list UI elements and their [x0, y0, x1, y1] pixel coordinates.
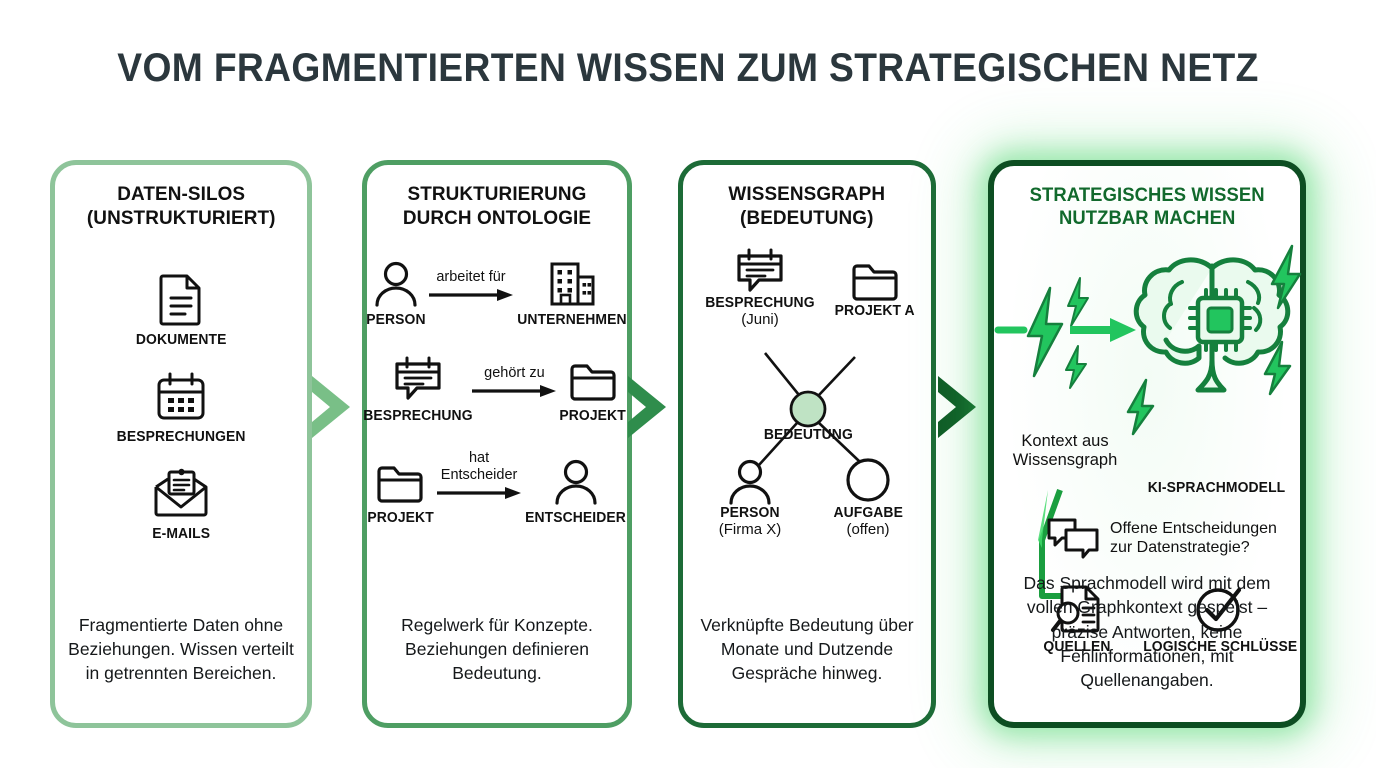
graph-node-besprechung: BESPRECHUNG (Juni)	[695, 247, 825, 328]
question-line-1: Offene Entscheidungen	[1110, 519, 1277, 538]
panel-2-heading-line1: STRUKTURIERUNG	[403, 183, 591, 207]
question-row: Offene Entscheidungen zur Datenstrategie…	[1046, 516, 1277, 560]
ontology-relation-list: PERSON arbeitet für	[377, 261, 617, 526]
knowledge-graph: BESPRECHUNG (Juni) PROJEKT A BEDEUTUNG	[687, 247, 927, 547]
lightning-icon-top-right	[1266, 244, 1306, 310]
calendar-icon	[155, 372, 207, 422]
lightning-icon-bottom-left	[1122, 378, 1158, 436]
chat-bubbles-icon	[1046, 516, 1100, 560]
graph-sub-besprechung: (Juni)	[741, 311, 779, 328]
panel-1-heading: DATEN-SILOS (UNSTRUKTURIERT)	[87, 183, 276, 231]
panel-knowledge-graph: WISSENSGRAPH (BEDEUTUNG)	[678, 160, 936, 728]
ontology-node-besprechung: BESPRECHUNG	[366, 355, 470, 424]
panel-2-heading: STRUKTURIERUNG DURCH ONTOLOGIE	[403, 183, 591, 231]
panel-4-heading-line1: STRATEGISCHES WISSEN	[1029, 184, 1264, 207]
flow-arrow-2	[622, 372, 678, 442]
relation-row-projekt-entscheider: PROJEKT hat Entscheider	[377, 451, 617, 526]
panel-4-heading-line2: NUTZBAR MACHEN	[1029, 207, 1264, 230]
flow-arrow-1	[306, 372, 362, 442]
graph-node-person: PERSON (Firma X)	[695, 459, 805, 538]
panel-data-silos: DATEN-SILOS (UNSTRUKTURIERT) DOKUMENTE	[50, 160, 312, 728]
panel-4-description: Das Sprachmodell wird mit dem vollen Gra…	[1002, 571, 1292, 692]
circle-icon	[845, 457, 891, 505]
panel-2-description: Regelwerk für Konzepte. Beziehungen defi…	[375, 613, 619, 685]
graph-sub-person: (Firma X)	[719, 521, 782, 538]
ontology-node-person: PERSON	[365, 261, 427, 328]
infographic-canvas: VOM FRAGMENTIERTEN WISSEN ZUM STRATEGISC…	[0, 0, 1376, 768]
ontology-label-unternehmen: UNTERNEHMEN	[517, 312, 626, 328]
arrow-right-icon	[470, 384, 558, 398]
relation-gehoert-zu: gehört zu	[470, 366, 558, 424]
graph-sub-aufgabe: (offen)	[846, 521, 889, 538]
silo-label-besprechungen: BESPRECHUNGEN	[117, 429, 246, 445]
ontology-node-unternehmen: UNTERNEHMEN	[515, 261, 629, 328]
ontology-node-projekt: PROJEKT	[558, 361, 627, 424]
relation-hat-entscheider: hat Entscheider	[435, 451, 523, 526]
relation-label-gehoert-zu: gehört zu	[484, 366, 544, 382]
arrow-right-icon	[435, 486, 523, 500]
ontology-label-person: PERSON	[366, 312, 425, 328]
ontology-label-besprechung: BESPRECHUNG	[364, 408, 473, 424]
person-icon	[554, 459, 598, 505]
llm-label-text: KI-SPRACHMODELL	[1137, 480, 1295, 496]
panel-1-heading-line1: DATEN-SILOS	[87, 183, 276, 207]
ontology-label-projekt-2: PROJEKT	[367, 510, 433, 526]
relation-label-entscheider: Entscheider	[441, 468, 518, 484]
panel-3-heading: WISSENSGRAPH (BEDEUTUNG)	[729, 183, 886, 231]
panel-4-heading: STRATEGISCHES WISSEN NUTZBAR MACHEN	[1029, 184, 1264, 230]
panel-1-heading-line2: (UNSTRUKTURIERT)	[87, 207, 276, 231]
graph-label-besprechung: BESPRECHUNG	[705, 295, 814, 311]
silo-item-dokumente: DOKUMENTE	[134, 273, 228, 348]
folder-icon	[850, 261, 900, 303]
chip-icon	[1190, 290, 1250, 350]
question-line-2: zur Datenstrategie?	[1110, 538, 1277, 557]
graph-label-person: PERSON	[720, 505, 779, 521]
person-icon	[374, 261, 418, 307]
graph-center-bedeutung: BEDEUTUNG	[723, 427, 893, 443]
ontology-label-entscheider: ENTSCHEIDER	[525, 510, 626, 526]
panel-3-description: Verknüpfte Bedeutung über Monate und Dut…	[691, 613, 923, 685]
ontology-node-projekt-2: PROJEKT	[366, 463, 435, 526]
relation-row-person-unternehmen: PERSON arbeitet für	[377, 261, 617, 328]
panel-1-description: Fragmentierte Daten ohne Beziehungen. Wi…	[63, 613, 299, 685]
flow-arrow-3	[932, 372, 988, 442]
building-icon	[546, 261, 598, 307]
silo-item-emails: E-MAILS	[151, 469, 211, 542]
panel-3-heading-line2: (BEDEUTUNG)	[729, 207, 886, 231]
person-icon	[728, 459, 772, 505]
relation-row-besprechung-projekt: BESPRECHUNG gehört zu	[377, 355, 617, 424]
silo-label-emails: E-MAILS	[152, 526, 210, 542]
lightning-icon-right	[1260, 340, 1294, 396]
silo-item-besprechungen: BESPRECHUNGEN	[114, 372, 248, 445]
folder-icon	[375, 463, 425, 505]
graph-label-projekt-a: PROJEKT A	[835, 303, 915, 319]
relation-arbeitet-fuer: arbeitet für	[427, 270, 515, 328]
relation-label-arbeitet-fuer: arbeitet für	[436, 270, 505, 286]
panel-3-heading-line1: WISSENSGRAPH	[729, 183, 886, 207]
context-label: Kontext aus Wissensgraph	[1000, 432, 1130, 470]
graph-node-projekt-a: PROJEKT A	[825, 261, 925, 319]
meeting-icon	[735, 247, 785, 295]
context-label-text: Kontext aus Wissensgraph	[1000, 432, 1130, 470]
folder-icon	[568, 361, 618, 403]
llm-label: KI-SPRACHMODELL	[1134, 480, 1299, 496]
llm-zone: Kontext aus Wissensgraph KI-SPRACHMODELL	[994, 244, 1300, 514]
ontology-node-entscheider: ENTSCHEIDER	[523, 459, 628, 526]
relation-label-hat: hat	[469, 451, 489, 467]
context-energy-icons	[994, 272, 1144, 392]
email-icon	[153, 469, 209, 519]
graph-node-aufgabe: AUFGABE (offen)	[813, 457, 923, 538]
graph-label-bedeutung: BEDEUTUNG	[763, 427, 852, 443]
question-text: Offene Entscheidungen zur Datenstrategie…	[1110, 519, 1277, 557]
graph-label-aufgabe: AUFGABE	[833, 505, 903, 521]
panel-strategic-knowledge: STRATEGISCHES WISSEN NUTZBAR MACHEN	[988, 160, 1306, 728]
panel-ontology: STRUKTURIERUNG DURCH ONTOLOGIE PERSON ar…	[362, 160, 632, 728]
page-title: VOM FRAGMENTIERTEN WISSEN ZUM STRATEGISC…	[48, 46, 1328, 91]
ontology-label-projekt: PROJEKT	[560, 408, 626, 424]
arrow-right-icon	[427, 288, 515, 302]
silo-list: DOKUMENTE	[114, 273, 248, 542]
panel-2-heading-line2: DURCH ONTOLOGIE	[403, 207, 591, 231]
meeting-icon	[393, 355, 443, 403]
document-icon	[158, 273, 204, 325]
silo-label-dokumente: DOKUMENTE	[136, 332, 227, 348]
